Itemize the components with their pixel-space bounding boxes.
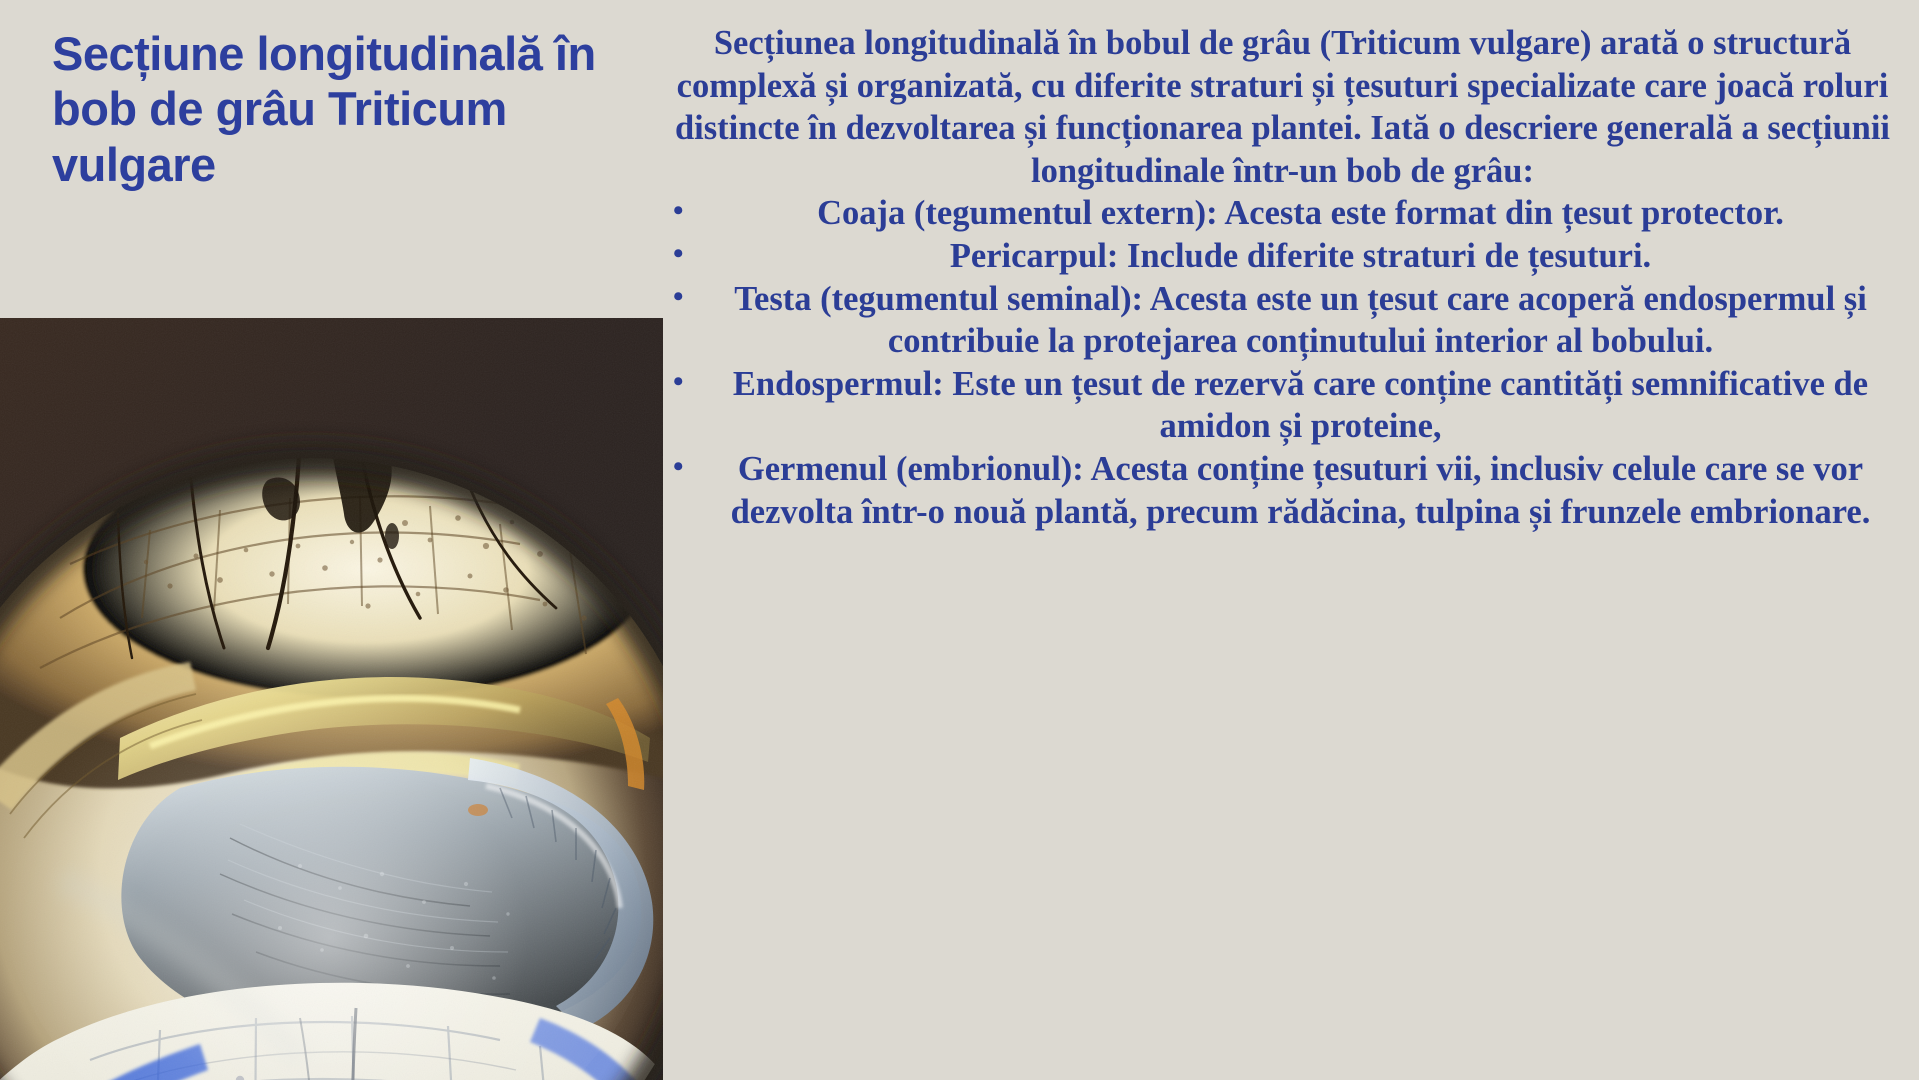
micrograph-image [0,318,663,1080]
description-panel: Secțiunea longitudinală în bobul de grâu… [655,22,1910,533]
bullet-icon: • [673,235,684,272]
bullet-icon: • [673,278,684,315]
list-item: • Testa (tegumentul seminal): Acesta est… [655,278,1910,363]
micrograph-canvas [0,318,663,1080]
structure-bullet-list: • Coaja (tegumentul extern): Acesta este… [655,192,1910,533]
list-item-label: Pericarpul: Include diferite straturi de… [950,237,1651,275]
list-item-label: Coaja (tegumentul extern): Acesta este f… [817,194,1784,232]
list-item-label: Endospermul: Este un țesut de rezervă ca… [733,365,1868,446]
intro-paragraph: Secțiunea longitudinală în bobul de grâu… [655,22,1910,192]
bullet-icon: • [673,192,684,229]
list-item: • Germenul (embrionul): Acesta conține ț… [655,448,1910,533]
bullet-icon: • [673,448,684,485]
list-item: • Endospermul: Este un țesut de rezervă … [655,363,1910,448]
list-item-label: Testa (tegumentul seminal): Acesta este … [734,280,1867,361]
list-item: • Coaja (tegumentul extern): Acesta este… [655,192,1910,235]
page-title: Secțiune longitudinală în bob de grâu Tr… [52,26,652,192]
bullet-icon: • [673,363,684,400]
list-item: • Pericarpul: Include diferite straturi … [655,235,1910,278]
list-item-label: Germenul (embrionul): Acesta conține țes… [731,450,1871,531]
